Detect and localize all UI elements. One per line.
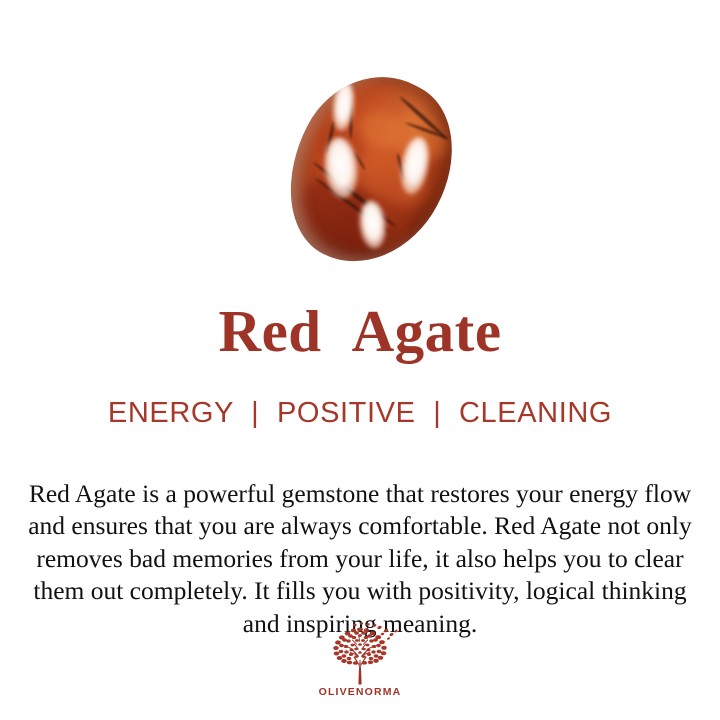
red-agate-stone-shape (258, 50, 482, 291)
description-paragraph: Red Agate is a powerful gemstone that re… (18, 478, 702, 641)
keyword-energy: ENERGY (108, 397, 234, 429)
page-title: Red Agate (0, 298, 720, 364)
keyword-cleaning: CLEANING (459, 397, 612, 429)
brand-wordmark: OLIVENORMA (310, 686, 410, 698)
hero-image-area (0, 0, 720, 280)
keyword-positive: POSITIVE (277, 397, 416, 429)
brand-logo: OLIVENORMA (310, 620, 410, 708)
gemstone-image (268, 72, 472, 268)
product-info-card: Red Agate ENERGY | POSITIVE | CLEANING R… (0, 0, 720, 720)
keyword-separator: | (242, 396, 268, 430)
keyword-list: ENERGY | POSITIVE | CLEANING (0, 396, 720, 430)
keyword-separator: | (424, 396, 450, 430)
olivenorma-tree-icon (310, 620, 410, 686)
